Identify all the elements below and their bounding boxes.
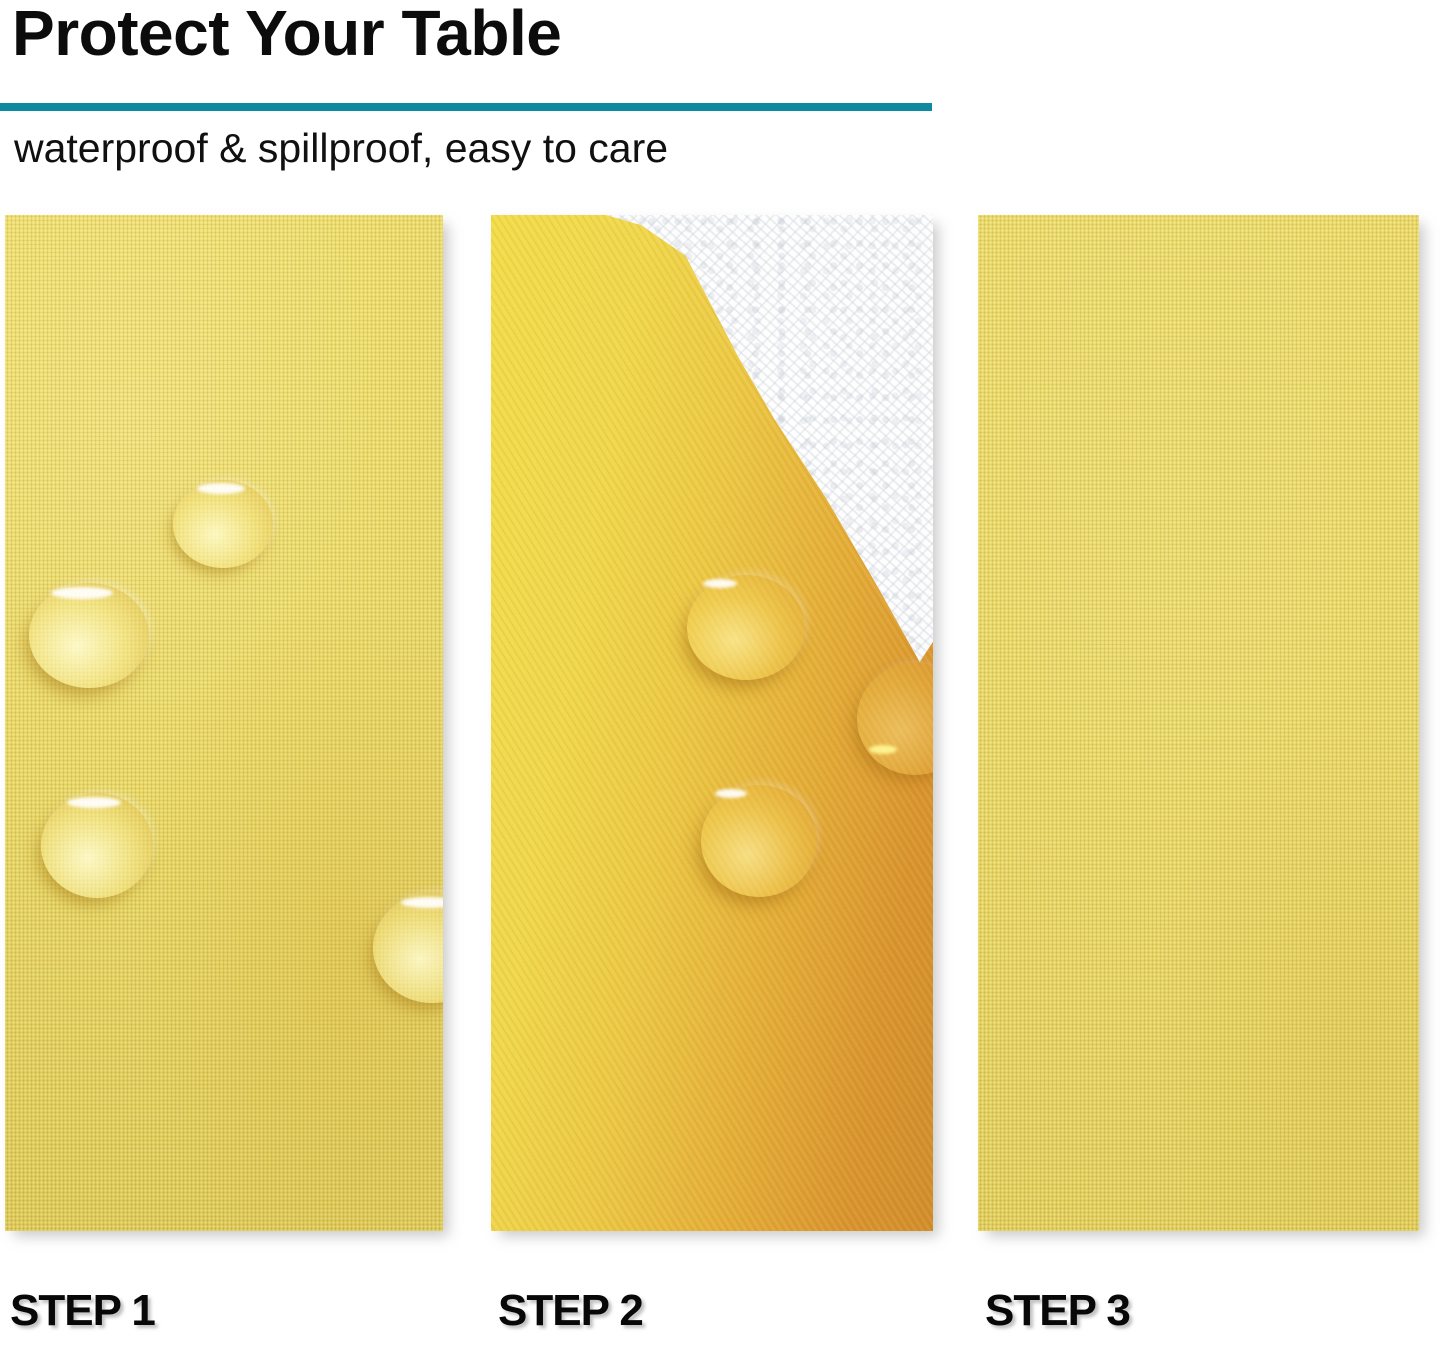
panel-step-2: [491, 215, 933, 1231]
droplet-highlight: [703, 579, 737, 588]
droplet-body: [701, 785, 817, 897]
page-title: Protect Your Table: [12, 0, 561, 72]
infographic-page: Protect Your Table waterproof & spillpro…: [0, 0, 1445, 1345]
step-label-1: STEP 1: [10, 1286, 155, 1336]
droplet-highlight: [51, 587, 113, 599]
panel-step-1: [5, 215, 443, 1231]
step-captions: STEP 1 STEP 2 STEP 3: [0, 1286, 1445, 1345]
water-droplet: [29, 583, 149, 688]
title-divider: [0, 103, 932, 111]
page-subtitle: waterproof & spillproof, easy to care: [14, 124, 668, 173]
water-droplet: [701, 785, 817, 897]
droplet-highlight: [67, 797, 121, 808]
droplet-highlight: [715, 789, 747, 798]
droplet-body: [687, 575, 805, 680]
header: Protect Your Table waterproof & spillpro…: [0, 0, 1445, 200]
step-label-2: STEP 2: [498, 1286, 643, 1336]
water-droplet: [41, 793, 153, 898]
panel-step-3: [978, 215, 1419, 1231]
droplet-highlight: [197, 483, 245, 494]
fabric-shading: [978, 215, 1419, 1231]
fabric-shading: [5, 215, 443, 1231]
panel-strip: [0, 215, 1445, 1231]
water-droplet: [173, 480, 273, 568]
step-label-3: STEP 3: [985, 1286, 1130, 1336]
droplet-highlight: [869, 745, 897, 754]
droplet-body: [41, 793, 153, 898]
water-droplet: [687, 575, 805, 680]
